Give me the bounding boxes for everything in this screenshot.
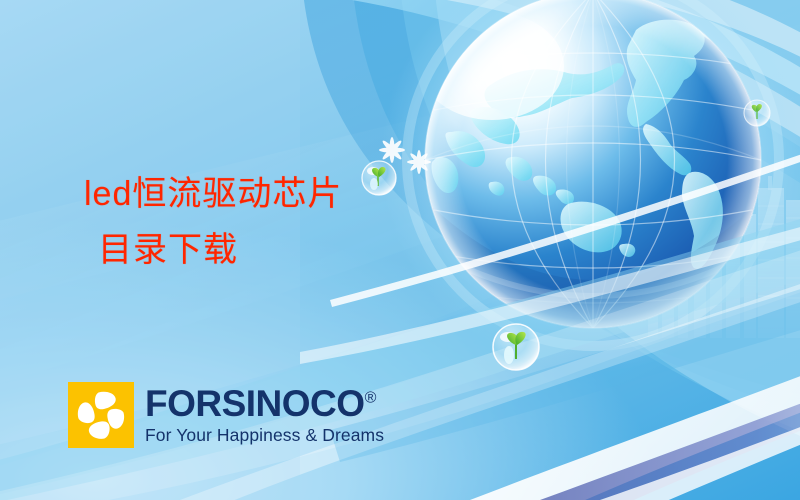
registered-trademark-icon: ® — [365, 390, 376, 407]
headline-line-1: led恒流驱动芯片 — [84, 175, 342, 213]
four-petal-pinwheel-icon — [68, 382, 134, 448]
brand-logo[interactable]: FORSINOCO® For Your Happiness & Dreams — [68, 382, 384, 448]
brand-name-text: FORSINOCO — [145, 383, 365, 424]
promo-banner: led恒流驱动芯片 目录下载 FORSINOCO® For Your Happi… — [0, 0, 800, 500]
brand-name: FORSINOCO® — [145, 385, 384, 422]
brand-text-block: FORSINOCO® For Your Happiness & Dreams — [145, 385, 384, 445]
brand-tagline: For Your Happiness & Dreams — [145, 427, 384, 445]
page-title: led恒流驱动芯片 目录下载 — [84, 166, 342, 278]
headline-line-2: 目录下载 — [84, 222, 342, 278]
